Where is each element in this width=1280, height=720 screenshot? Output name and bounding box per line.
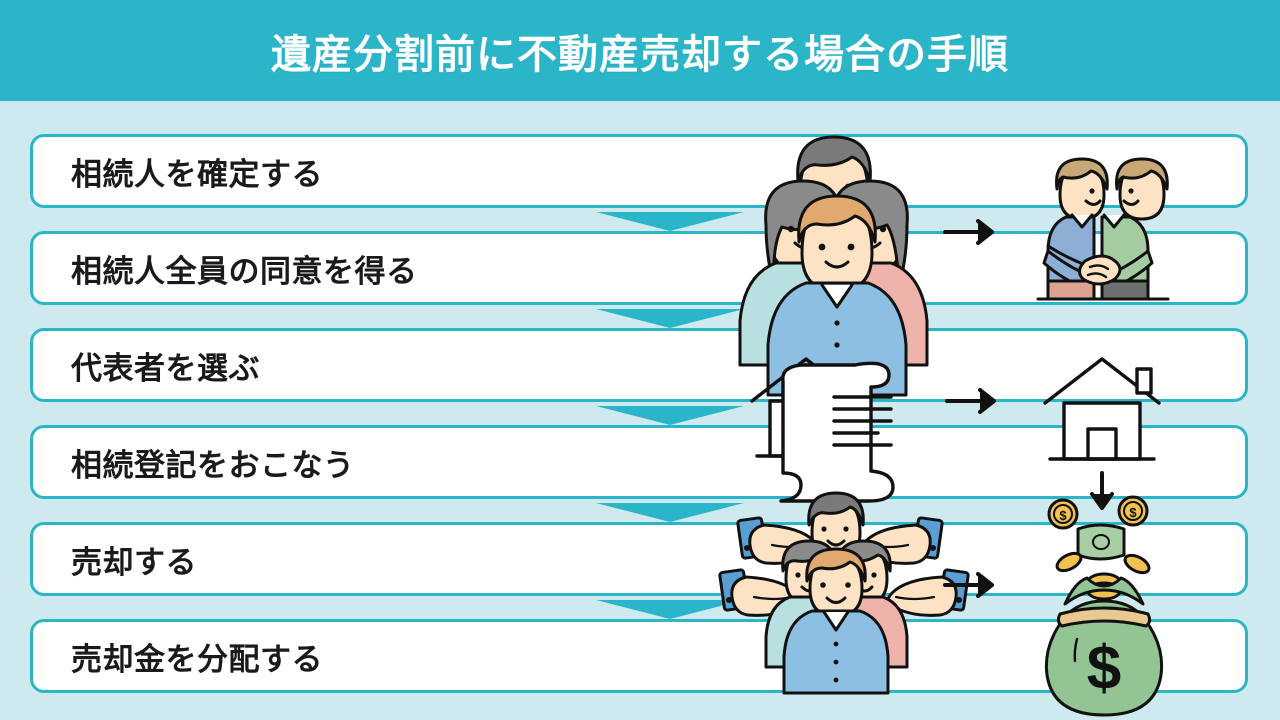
step-box-1[interactable]: 相続人を確定する [30,134,1248,208]
chevron-down-icon-5 [596,600,744,619]
chevron-down-icon-4 [596,503,744,522]
step-label-1: 相続人を確定する [71,149,323,194]
step-label-4: 相続登記をおこなう [71,440,355,485]
step-row: 売却する [30,522,1252,600]
step-box-3[interactable]: 代表者を選ぶ [30,328,1248,402]
step-box-4[interactable]: 相続登記をおこなう [30,425,1248,499]
steps-list: 相続人を確定する 相続人全員の同意を得る 代表者を選ぶ [30,134,1252,700]
page-title: 遺産分割前に不動産売却する場合の手順 [271,22,1009,80]
step-box-2[interactable]: 相続人全員の同意を得る [30,231,1248,305]
step-row: 代表者を選ぶ [30,328,1252,406]
step-box-5[interactable]: 売却する [30,522,1248,596]
header-banner: 遺産分割前に不動産売却する場合の手順 [0,0,1280,101]
chevron-down-icon-2 [596,309,744,328]
step-label-2: 相続人全員の同意を得る [71,246,418,291]
step-label-3: 代表者を選ぶ [71,343,260,388]
step-row: 相続登記をおこなう [30,425,1252,503]
step-label-6: 売却金を分配する [71,634,323,679]
step-row: 相続人を確定する [30,134,1252,212]
chevron-down-icon-3 [596,406,744,425]
infographic-page: 遺産分割前に不動産売却する場合の手順 相続人を確定する 相続人全員の同意を得る [0,0,1280,720]
step-row: 売却金を分配する [30,619,1252,697]
step-label-5: 売却する [71,537,197,582]
chevron-down-icon-1 [596,212,744,231]
step-box-6[interactable]: 売却金を分配する [30,619,1248,693]
step-row: 相続人全員の同意を得る [30,231,1252,309]
